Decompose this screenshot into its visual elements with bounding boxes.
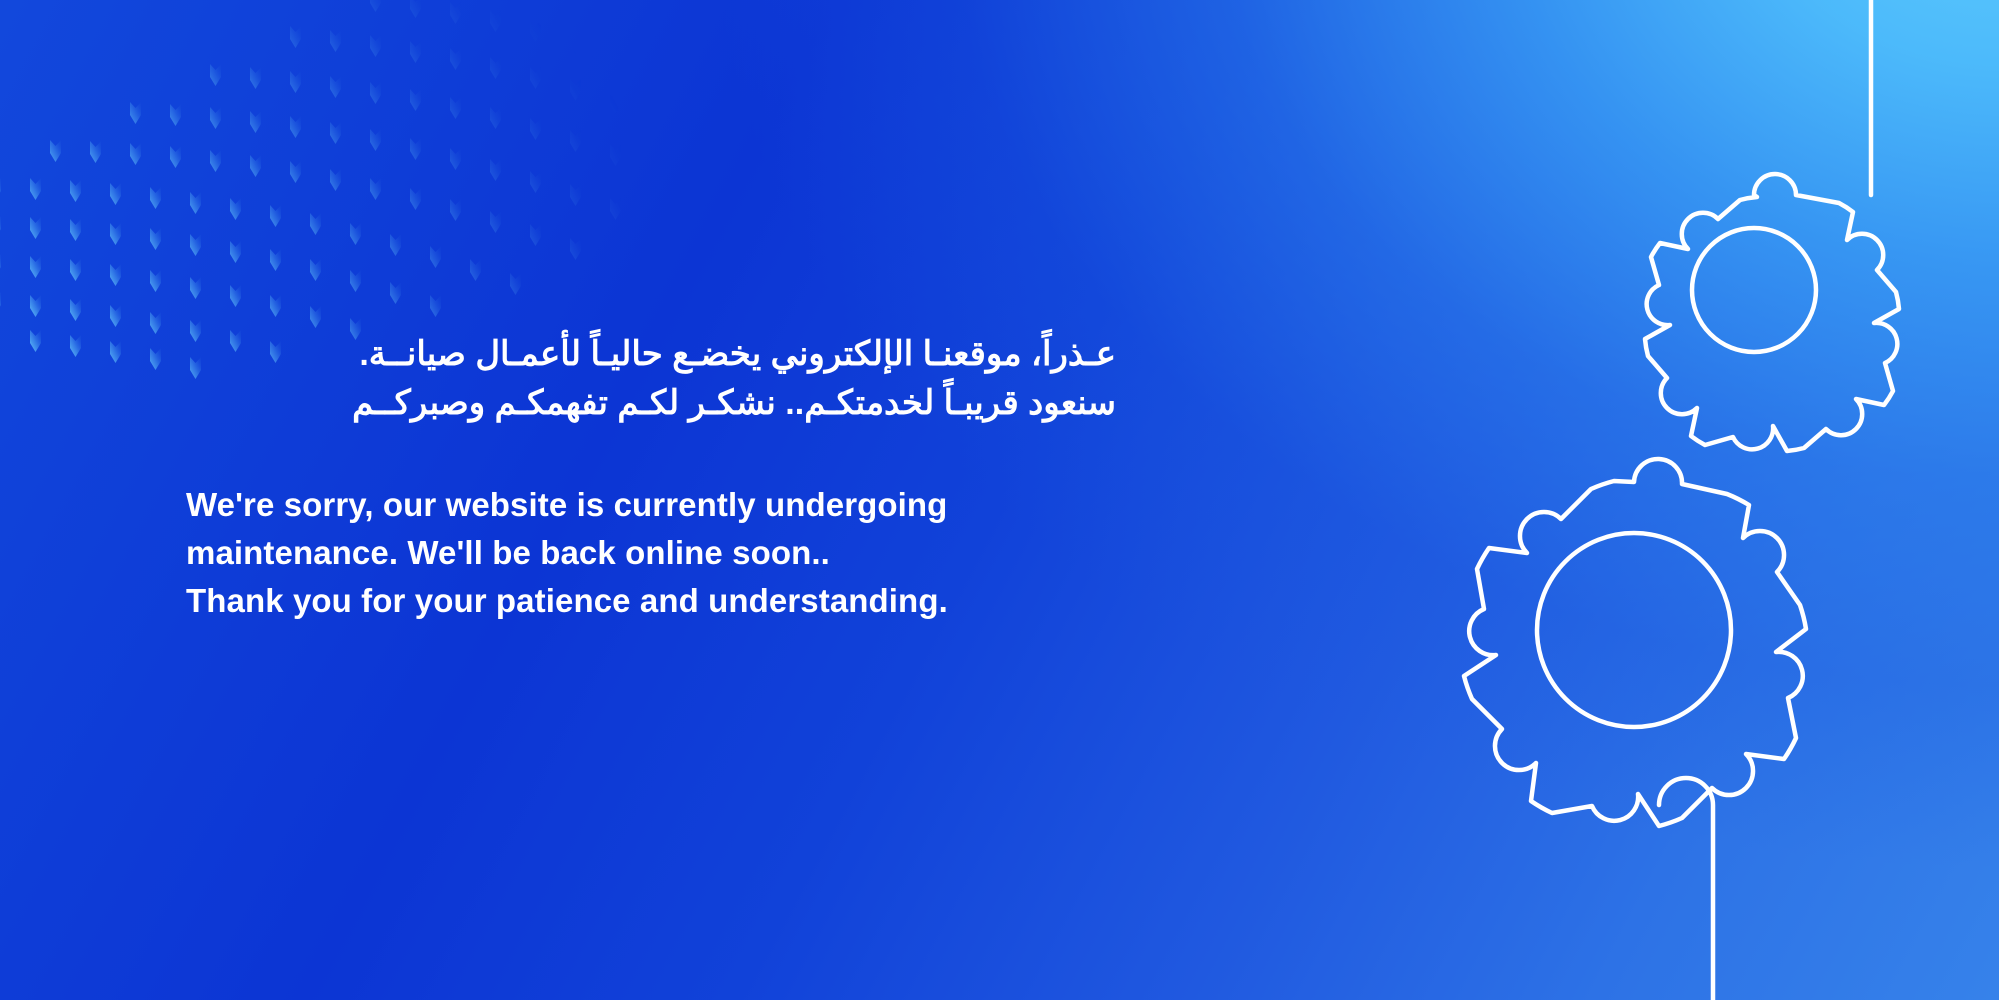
bottom-connector-line (1659, 778, 1713, 1000)
english-line-1: We're sorry, our website is currently un… (186, 481, 1186, 529)
arabic-line-1: عـذراً، موقعنـا الإلكتروني يخضـع حاليـاً… (186, 330, 1116, 379)
large-gear-hub (1537, 533, 1731, 727)
gear-artwork (1099, 0, 1999, 1000)
arabic-line-2: سنعود قريبـاً لخدمتكـم.. نشكـر لكـم تفهم… (186, 379, 1116, 428)
large-gear (1464, 459, 1806, 826)
arabic-message: عـذراً، موقعنـا الإلكتروني يخضـع حاليـاً… (186, 330, 1116, 429)
message-block: عـذراً، موقعنـا الإلكتروني يخضـع حاليـاً… (186, 330, 1186, 625)
english-line-2: maintenance. We'll be back online soon.. (186, 529, 1186, 577)
maintenance-page: عـذراً، موقعنـا الإلكتروني يخضـع حاليـاً… (0, 0, 1999, 1000)
english-line-3: Thank you for your patience and understa… (186, 577, 1186, 625)
english-message: We're sorry, our website is currently un… (186, 481, 1186, 626)
small-gear (1645, 174, 1899, 451)
small-gear-hub (1692, 228, 1816, 352)
